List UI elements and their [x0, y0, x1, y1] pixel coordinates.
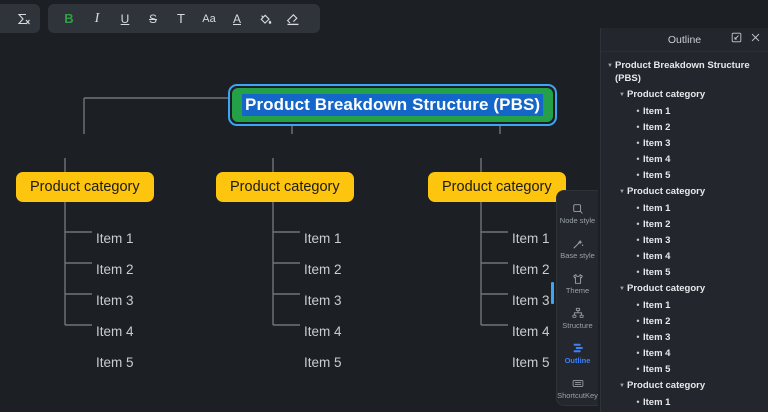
node-style-label: Node style	[560, 216, 595, 225]
item-label[interactable]: Item 4	[96, 324, 134, 339]
shortcutkey-label: ShortcutKey	[557, 391, 598, 400]
outline-leaf-row[interactable]: •Item 3	[601, 329, 768, 345]
floating-tool-panel: Node style Base style Theme	[556, 190, 598, 406]
text-caret	[551, 282, 554, 304]
italic-button[interactable]: I	[84, 7, 110, 30]
outline-branch-row[interactable]: ▼Product Breakdown Structure (PBS)	[601, 57, 768, 86]
keyboard-icon	[571, 377, 585, 390]
outline-leaf-row[interactable]: •Item 4	[601, 151, 768, 167]
outline-node-label[interactable]: Item 1	[643, 299, 670, 312]
bullet-icon: •	[633, 137, 643, 150]
outline-leaf-row[interactable]: •Item 3	[601, 232, 768, 248]
shape-icon	[571, 202, 585, 215]
bullet-icon: •	[633, 105, 643, 118]
outline-panel-title: Outline	[668, 34, 701, 46]
outline-node-label[interactable]: Item 1	[643, 202, 670, 215]
outline-node-label[interactable]: Product Breakdown Structure (PBS)	[615, 59, 762, 85]
outline-leaf-row[interactable]: •Item 1	[601, 394, 768, 410]
bullet-icon: •	[633, 396, 643, 409]
root-node-label[interactable]: Product Breakdown Structure (PBS)	[242, 94, 543, 116]
outline-node-label[interactable]: Item 3	[643, 137, 670, 150]
chevron-down-icon[interactable]: ▼	[617, 185, 627, 199]
item-label[interactable]: Item 5	[512, 355, 550, 370]
item-label[interactable]: Item 3	[512, 293, 550, 308]
category-node-1[interactable]: Product category	[16, 172, 154, 202]
outline-node-label[interactable]: Product category	[627, 88, 705, 101]
outline-leaf-row[interactable]: •Item 4	[601, 248, 768, 264]
item-label[interactable]: Item 5	[304, 355, 342, 370]
fill-color-button[interactable]	[252, 7, 278, 30]
item-label[interactable]: Item 2	[304, 262, 342, 277]
underline-button[interactable]: U	[112, 7, 138, 30]
outline-leaf-row[interactable]: •Item 1	[601, 200, 768, 216]
theme-label: Theme	[566, 286, 589, 295]
category-node-2[interactable]: Product category	[216, 172, 354, 202]
bullet-icon: •	[633, 363, 643, 376]
formula-icon[interactable]	[11, 7, 34, 30]
outline-header-actions	[731, 32, 761, 43]
mindmap-app: B I U S T Aa A	[0, 0, 768, 412]
theme-tool[interactable]: Theme	[557, 267, 599, 301]
root-node-fill: Product Breakdown Structure (PBS)	[232, 88, 553, 122]
text-button[interactable]: T	[168, 7, 194, 30]
expand-icon[interactable]	[731, 32, 742, 43]
outline-branch-row[interactable]: ▼Product category	[601, 377, 768, 394]
bullet-icon: •	[633, 202, 643, 215]
base-style-label: Base style	[560, 251, 595, 260]
outline-node-label[interactable]: Item 4	[643, 347, 670, 360]
outline-node-label[interactable]: Item 4	[643, 250, 670, 263]
outline-leaf-row[interactable]: •Item 2	[601, 216, 768, 232]
item-label[interactable]: Item 1	[304, 231, 342, 246]
outline-node-label[interactable]: Item 1	[643, 105, 670, 118]
outline-header: Outline	[601, 28, 768, 52]
table-icon[interactable]	[0, 7, 1, 30]
chevron-down-icon[interactable]: ▼	[605, 59, 615, 73]
item-label[interactable]: Item 1	[512, 231, 550, 246]
bullet-icon: •	[633, 299, 643, 312]
bullet-icon: •	[633, 331, 643, 344]
outline-leaf-row[interactable]: •Item 1	[601, 103, 768, 119]
bullet-icon: •	[633, 234, 643, 247]
font-color-button[interactable]: A	[224, 7, 250, 30]
item-label[interactable]: Item 4	[304, 324, 342, 339]
bullet-icon: •	[633, 315, 643, 328]
item-label[interactable]: Item 1	[96, 231, 134, 246]
outline-node-label[interactable]: Item 1	[643, 396, 670, 409]
item-label[interactable]: Item 4	[512, 324, 550, 339]
bullet-icon: •	[633, 169, 643, 182]
outline-node-label[interactable]: Product category	[627, 379, 705, 392]
outline-bars-icon	[571, 342, 585, 355]
clear-format-icon[interactable]	[280, 7, 306, 30]
outline-leaf-row[interactable]: •Item 2	[601, 313, 768, 329]
outline-leaf-row[interactable]: •Item 2	[601, 119, 768, 135]
item-label[interactable]: Item 2	[96, 262, 134, 277]
chevron-down-icon[interactable]: ▼	[617, 88, 627, 102]
strikethrough-button[interactable]: S	[140, 7, 166, 30]
root-node[interactable]: Product Breakdown Structure (PBS)	[228, 84, 557, 126]
outline-node-label[interactable]: Item 2	[643, 218, 670, 231]
outline-node-label[interactable]: Item 3	[643, 234, 670, 247]
chevron-down-icon[interactable]: ▼	[617, 379, 627, 393]
outline-node-label[interactable]: Item 5	[643, 266, 670, 279]
outline-label: Outline	[565, 356, 591, 365]
bullet-icon: •	[633, 153, 643, 166]
toolbar-format-group: B I U S T Aa A	[48, 4, 320, 33]
base-style-tool[interactable]: Base style	[557, 232, 599, 266]
outline-branch-row[interactable]: ▼Product category	[601, 183, 768, 200]
chevron-down-icon[interactable]: ▼	[617, 282, 627, 296]
bullet-icon: •	[633, 121, 643, 134]
outline-branch-row[interactable]: ▼Product category	[601, 86, 768, 103]
shortcutkey-tool[interactable]: ShortcutKey	[557, 371, 599, 405]
toolbar-left-group	[0, 4, 40, 33]
hierarchy-icon	[571, 307, 585, 320]
node-style-tool[interactable]: Node style	[557, 197, 599, 231]
font-size-button[interactable]: Aa	[196, 7, 222, 30]
item-label[interactable]: Item 5	[96, 355, 134, 370]
outline-leaf-row[interactable]: •Item 5	[601, 264, 768, 280]
outline-node-label[interactable]: Product category	[627, 282, 705, 295]
category-node-3[interactable]: Product category	[428, 172, 566, 202]
mindmap-canvas[interactable]: Product Breakdown Structure (PBS) Produc…	[0, 38, 600, 412]
outline-node-label[interactable]: Item 3	[643, 331, 670, 344]
bullet-icon: •	[633, 347, 643, 360]
structure-tool[interactable]: Structure	[557, 301, 599, 335]
bold-button[interactable]: B	[56, 7, 82, 30]
outline-leaf-row[interactable]: •Item 4	[601, 345, 768, 361]
shirt-icon	[571, 272, 585, 285]
item-label[interactable]: Item 3	[304, 293, 342, 308]
outline-panel: Outline ▼Product Breakdown Structure (PB…	[600, 28, 768, 412]
outline-node-label[interactable]: Item 5	[643, 363, 670, 376]
outline-leaf-row[interactable]: •Item 3	[601, 135, 768, 151]
bullet-icon: •	[633, 266, 643, 279]
item-label[interactable]: Item 2	[512, 262, 550, 277]
outline-tree[interactable]: ▼Product Breakdown Structure (PBS)▼Produ…	[601, 52, 768, 410]
close-icon[interactable]	[750, 32, 761, 43]
outline-node-label[interactable]: Product category	[627, 185, 705, 198]
outline-node-label[interactable]: Item 5	[643, 169, 670, 182]
bullet-icon: •	[633, 218, 643, 231]
structure-label: Structure	[562, 321, 592, 330]
outline-node-label[interactable]: Item 2	[643, 315, 670, 328]
item-label[interactable]: Item 3	[96, 293, 134, 308]
outline-leaf-row[interactable]: •Item 1	[601, 297, 768, 313]
sparkle-icon	[571, 237, 585, 250]
outline-tool[interactable]: Outline	[557, 336, 599, 370]
outline-node-label[interactable]: Item 2	[643, 121, 670, 134]
bullet-icon: •	[633, 250, 643, 263]
outline-leaf-row[interactable]: •Item 5	[601, 361, 768, 377]
outline-leaf-row[interactable]: •Item 5	[601, 167, 768, 183]
outline-branch-row[interactable]: ▼Product category	[601, 280, 768, 297]
outline-node-label[interactable]: Item 4	[643, 153, 670, 166]
